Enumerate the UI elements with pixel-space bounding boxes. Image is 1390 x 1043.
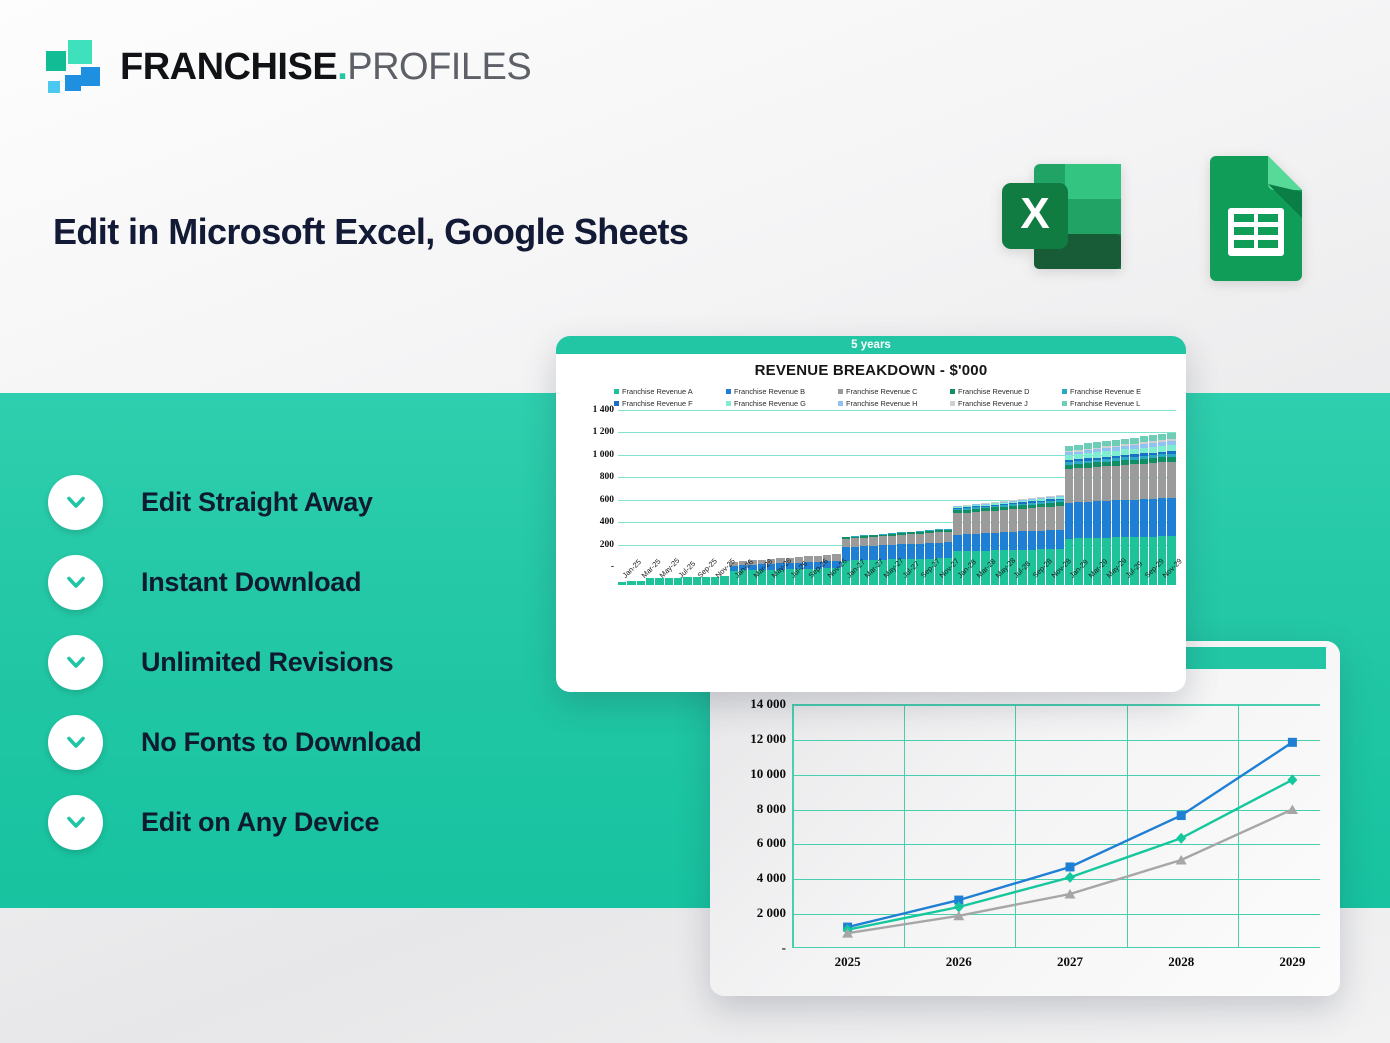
brand-name-light: PROFILES: [347, 46, 531, 88]
x-tick-label: 2027: [1057, 954, 1083, 970]
legend-swatch: [950, 389, 955, 394]
revenue-caption: 5 years: [556, 336, 1186, 354]
x-tick: [981, 570, 989, 614]
legend-swatch: [726, 389, 731, 394]
x-tick: [795, 570, 803, 614]
x-tick: May-29: [1102, 570, 1110, 614]
x-tick: Sep-27: [916, 570, 924, 614]
list-item[interactable]: Edit Straight Away: [48, 462, 568, 542]
page-root: FRANCHISE.PROFILES Edit in Microsoft Exc…: [0, 0, 1390, 1043]
google-sheets-icon: [1202, 152, 1336, 281]
line-series: [848, 742, 1293, 927]
legend-item: Franchise Revenue C: [838, 387, 950, 396]
legend-label: Franchise Revenue H: [846, 399, 917, 408]
x-tick: Nov-29: [1158, 570, 1166, 614]
legend-item: Franchise Revenue G: [726, 399, 838, 408]
x-tick: Mar-26: [748, 570, 756, 614]
x-tick: [665, 570, 673, 614]
y-tick-label: 1 000: [593, 450, 614, 460]
x-tick: Jul-26: [786, 570, 794, 614]
legend-item: Franchise Revenue A: [614, 387, 726, 396]
y-tick-label: 12 000: [750, 731, 786, 747]
data-point-marker: [1287, 774, 1297, 785]
x-tick: Sep-26: [804, 570, 812, 614]
gross-margin-card[interactable]: ber 2029 oss Margin -2 0004 0006 0008 00…: [710, 641, 1340, 996]
legend-item: Franchise Revenue D: [950, 387, 1062, 396]
x-tick: Jul-25: [674, 570, 682, 614]
x-tick: [646, 570, 654, 614]
x-tick-label: 2029: [1279, 954, 1305, 970]
x-tick: May-25: [655, 570, 663, 614]
data-point-marker: [1066, 862, 1075, 871]
legend-label: Franchise Revenue J: [958, 399, 1028, 408]
x-tick: [963, 570, 971, 614]
brand-name-dot: .: [337, 46, 347, 88]
legend-item: Franchise Revenue E: [1062, 387, 1174, 396]
x-tick-label: 2025: [835, 954, 861, 970]
microsoft-excel-icon: X: [994, 152, 1128, 281]
y-tick-label: 600: [600, 495, 614, 505]
chevron-down-icon: [48, 635, 103, 690]
revenue-y-axis: -2004006008001 0001 2001 400: [570, 410, 614, 567]
feature-label: Unlimited Revisions: [141, 647, 393, 678]
x-tick: May-27: [879, 570, 887, 614]
x-tick: [776, 570, 784, 614]
y-tick-label: 400: [600, 517, 614, 527]
x-tick: Jul-28: [1009, 570, 1017, 614]
legend-swatch: [614, 389, 619, 394]
page-title: Edit in Microsoft Excel, Google Sheets: [53, 211, 688, 253]
legend-label: Franchise Revenue L: [1070, 399, 1140, 408]
x-tick: [925, 570, 933, 614]
feature-label: Edit on Any Device: [141, 807, 379, 838]
brand-wordmark: FRANCHISE.PROFILES: [120, 48, 531, 86]
legend-item: Franchise Revenue J: [950, 399, 1062, 408]
x-tick: [832, 570, 840, 614]
y-tick-label: 1 200: [593, 427, 614, 437]
data-point-marker: [1177, 811, 1186, 820]
chevron-down-icon: [48, 475, 103, 530]
x-tick: [944, 570, 952, 614]
gross-margin-y-axis: -2 0004 0006 0008 00010 00012 00014 000: [724, 704, 786, 948]
x-tick: Jan-27: [842, 570, 850, 614]
list-item[interactable]: No Fonts to Download: [48, 702, 568, 782]
x-tick: [683, 570, 691, 614]
x-tick: [814, 570, 822, 614]
x-tick: Mar-27: [860, 570, 868, 614]
y-tick-label: 200: [600, 540, 614, 550]
x-tick: [720, 570, 728, 614]
feature-list: Edit Straight Away Instant Download Unli…: [48, 462, 568, 862]
list-item[interactable]: Unlimited Revisions: [48, 622, 568, 702]
y-tick-label: 14 000: [750, 696, 786, 712]
data-point-marker: [1287, 804, 1298, 814]
y-tick-label: 800: [600, 472, 614, 482]
y-tick-label: 4 000: [757, 870, 786, 886]
gross-margin-x-axis: 20252026202720282029: [792, 954, 1320, 980]
data-point-marker: [1176, 855, 1187, 865]
brand-logo[interactable]: FRANCHISE.PROFILES: [46, 40, 531, 94]
data-point-marker: [1065, 872, 1075, 883]
x-tick: [739, 570, 747, 614]
y-tick-label: 2 000: [757, 905, 786, 921]
legend-swatch: [838, 401, 843, 406]
x-tick-label: 2028: [1168, 954, 1194, 970]
data-point-marker: [1288, 738, 1297, 747]
x-tick: [627, 570, 635, 614]
legend-item: Franchise Revenue L: [1062, 399, 1174, 408]
x-tick: Mar-25: [637, 570, 645, 614]
y-tick-label: -: [611, 562, 614, 572]
list-item[interactable]: Edit on Any Device: [48, 782, 568, 862]
chevron-down-icon: [48, 555, 103, 610]
gross-margin-lines: [792, 704, 1340, 948]
x-tick: [758, 570, 766, 614]
revenue-chart-title: REVENUE BREAKDOWN - $'000: [556, 362, 1186, 379]
x-tick: Jul-29: [1121, 570, 1129, 614]
legend-swatch: [950, 401, 955, 406]
x-tick-label: 2026: [946, 954, 972, 970]
svg-text:X: X: [1020, 189, 1049, 238]
chevron-down-icon: [48, 715, 103, 770]
line-series: [848, 780, 1293, 930]
x-tick: [1093, 570, 1101, 614]
x-tick: [1130, 570, 1138, 614]
x-tick: [1000, 570, 1008, 614]
revenue-plot: -2004006008001 0001 2001 400 Jan-25Mar-2…: [570, 410, 1176, 585]
x-tick: Mar-29: [1084, 570, 1092, 614]
legend-item: Franchise Revenue F: [614, 399, 726, 408]
y-tick-label: 1 400: [593, 405, 614, 415]
x-tick: [888, 570, 896, 614]
feature-label: Edit Straight Away: [141, 487, 373, 518]
x-tick: Sep-28: [1028, 570, 1036, 614]
x-tick: May-28: [991, 570, 999, 614]
list-item[interactable]: Instant Download: [48, 542, 568, 622]
logo-mark-icon: [46, 40, 104, 94]
x-tick: [1018, 570, 1026, 614]
x-tick: Nov-26: [823, 570, 831, 614]
y-tick-label: 8 000: [757, 801, 786, 817]
legend-label: Franchise Revenue B: [734, 387, 805, 396]
x-tick: [1112, 570, 1120, 614]
x-tick: [1056, 570, 1064, 614]
legend-swatch: [838, 389, 843, 394]
x-tick: Nov-25: [711, 570, 719, 614]
x-tick: Sep-29: [1140, 570, 1148, 614]
x-tick: [702, 570, 710, 614]
x-tick: Jan-29: [1065, 570, 1073, 614]
legend-swatch: [726, 401, 731, 406]
x-tick: [851, 570, 859, 614]
legend-label: Franchise Revenue E: [1070, 387, 1141, 396]
x-tick: [1167, 570, 1175, 614]
revenue-breakdown-card[interactable]: 5 years REVENUE BREAKDOWN - $'000 Franch…: [556, 336, 1186, 692]
x-tick: Nov-28: [1046, 570, 1054, 614]
x-tick: [1037, 570, 1045, 614]
legend-item: Franchise Revenue B: [726, 387, 838, 396]
legend-swatch: [614, 401, 619, 406]
feature-label: No Fonts to Download: [141, 727, 421, 758]
y-tick-label: -: [782, 940, 786, 956]
x-tick: [1074, 570, 1082, 614]
x-tick: Sep-25: [693, 570, 701, 614]
x-tick: Nov-27: [935, 570, 943, 614]
x-tick: [1149, 570, 1157, 614]
x-tick: [869, 570, 877, 614]
y-tick-label: 6 000: [757, 835, 786, 851]
x-tick: Jan-26: [730, 570, 738, 614]
legend-label: Franchise Revenue F: [622, 399, 693, 408]
legend-label: Franchise Revenue A: [622, 387, 693, 396]
brand-name-bold: FRANCHISE: [120, 46, 337, 88]
x-tick: Jul-27: [897, 570, 905, 614]
legend-label: Franchise Revenue G: [734, 399, 806, 408]
revenue-legend: Franchise Revenue AFranchise Revenue BFr…: [556, 379, 1186, 408]
legend-swatch: [1062, 401, 1067, 406]
legend-label: Franchise Revenue C: [846, 387, 917, 396]
app-icons-group: X: [994, 152, 1336, 281]
x-tick: [907, 570, 915, 614]
revenue-x-axis: Jan-25Mar-25May-25Jul-25Sep-25Nov-25Jan-…: [618, 570, 1176, 614]
gross-margin-plot: -2 0004 0006 0008 00010 00012 00014 000 …: [724, 704, 1326, 986]
legend-item: Franchise Revenue H: [838, 399, 950, 408]
x-tick: Mar-28: [972, 570, 980, 614]
legend-label: Franchise Revenue D: [958, 387, 1029, 396]
feature-label: Instant Download: [141, 567, 361, 598]
x-tick: Jan-25: [618, 570, 626, 614]
x-tick: Jan-28: [953, 570, 961, 614]
y-tick-label: 10 000: [750, 766, 786, 782]
chevron-down-icon: [48, 795, 103, 850]
x-tick: May-26: [767, 570, 775, 614]
legend-swatch: [1062, 389, 1067, 394]
data-point-marker: [1176, 833, 1186, 844]
